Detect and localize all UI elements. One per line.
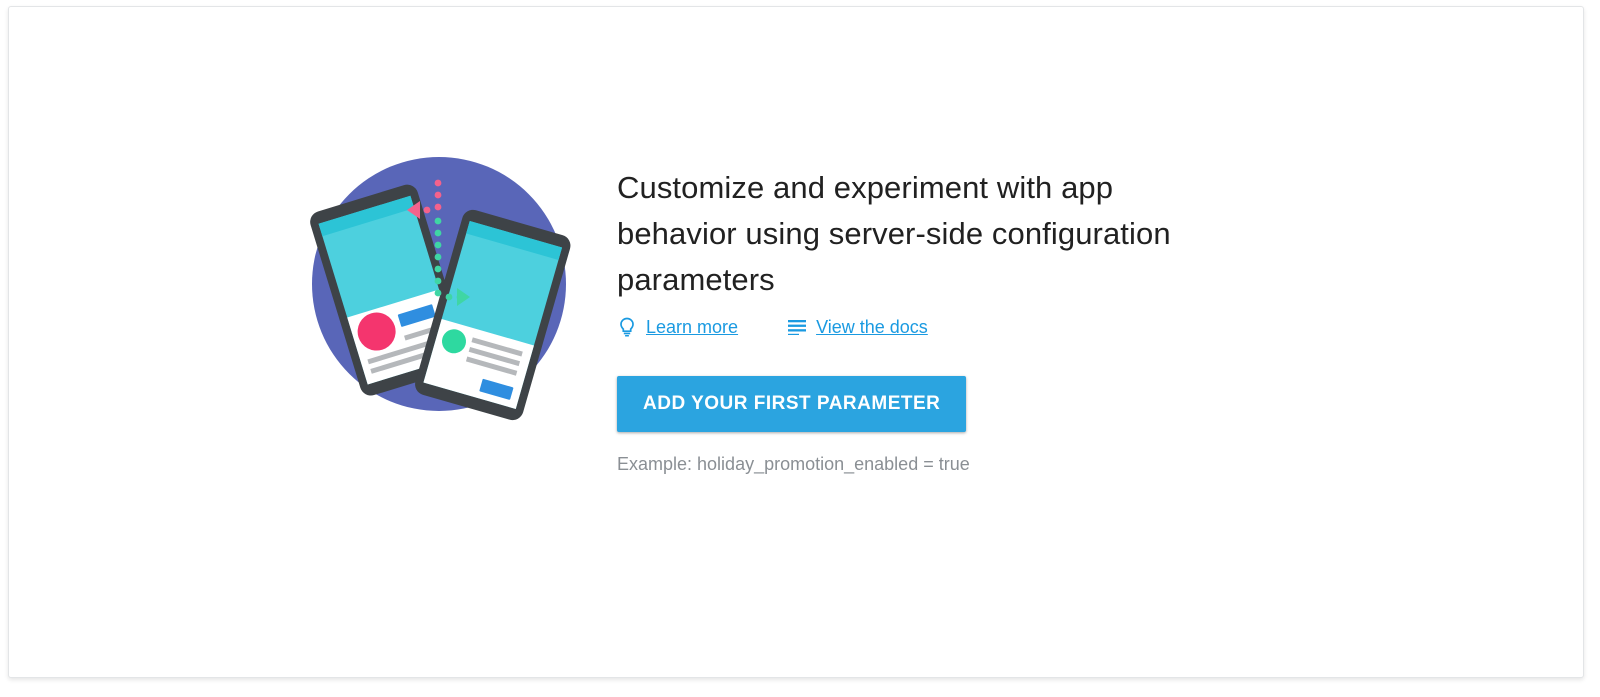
- add-first-parameter-button[interactable]: ADD YOUR FIRST PARAMETER: [617, 376, 966, 432]
- example-hint: Example: holiday_promotion_enabled = tru…: [617, 452, 1257, 476]
- subject-lines-icon: [787, 317, 807, 337]
- lightbulb-icon: [617, 317, 637, 337]
- view-docs-label: View the docs: [816, 316, 928, 338]
- help-links: Learn more View the docs: [617, 316, 1257, 338]
- learn-more-label: Learn more: [646, 316, 738, 338]
- empty-state-panel: Customize and experiment with app behavi…: [289, 147, 1257, 476]
- view-docs-link[interactable]: View the docs: [787, 316, 928, 338]
- page-title: Customize and experiment with app behavi…: [617, 165, 1227, 303]
- learn-more-link[interactable]: Learn more: [617, 316, 738, 338]
- remote-config-illustration: [289, 147, 589, 427]
- screen-root: Customize and experiment with app behavi…: [0, 0, 1600, 697]
- empty-state-copy: Customize and experiment with app behavi…: [617, 147, 1257, 476]
- content-card: Customize and experiment with app behavi…: [8, 6, 1584, 678]
